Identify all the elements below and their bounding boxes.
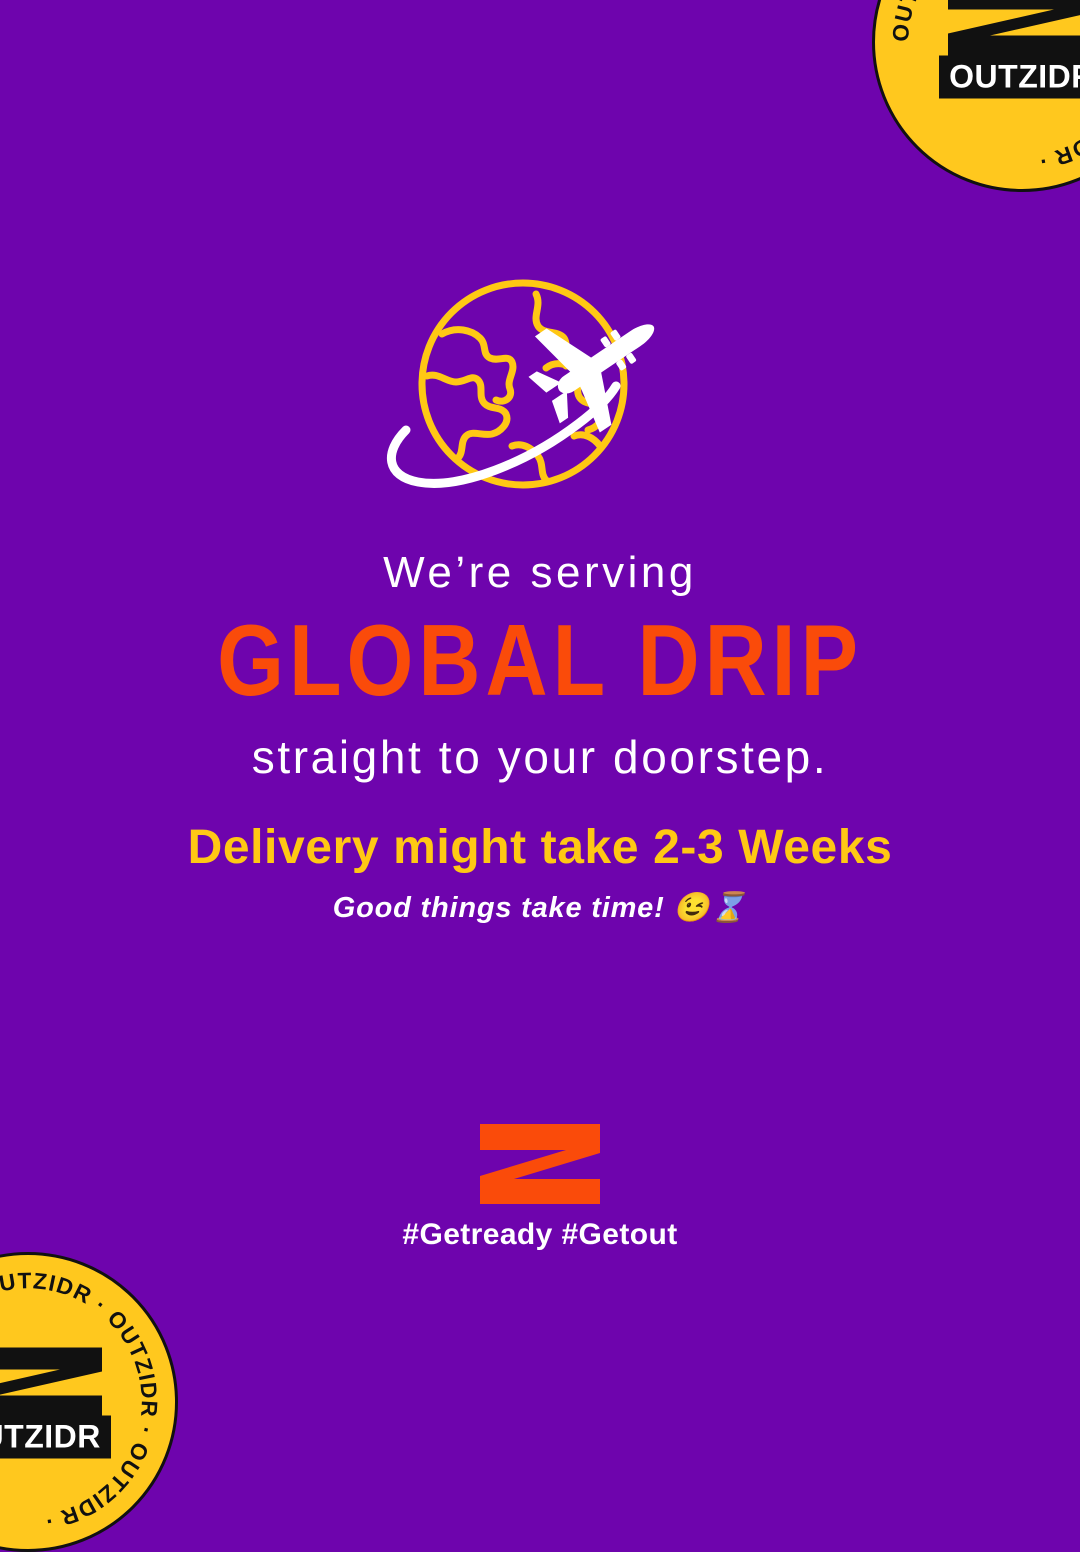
delivery-reassurance-text: Good things take time! 😉⌛ bbox=[0, 891, 1080, 925]
delivery-notice: Delivery might take 2-3 Weeks Good thing… bbox=[0, 822, 1080, 925]
kicker-text: We’re serving bbox=[0, 548, 1080, 599]
badge-wordmark-tr: OUTZIDR bbox=[939, 56, 1080, 99]
main-copy-block: We’re serving GLOBAL DRIP straight to yo… bbox=[0, 548, 1080, 784]
z-logo bbox=[478, 1122, 602, 1206]
page-title: GLOBAL DRIP bbox=[0, 604, 1080, 718]
badge-wordmark-bl: OUTZIDR bbox=[0, 1416, 111, 1459]
brand-badge-bottom-left: OUTZIDR · OUTZIDR · OUTZIDR · OUTZIDR · … bbox=[0, 1252, 178, 1552]
globe-airplane-icon bbox=[360, 272, 720, 512]
hashtags-text: #Getready #Getout bbox=[0, 1218, 1080, 1252]
badge-z-icon bbox=[0, 1346, 108, 1420]
subline-text: straight to your doorstep. bbox=[0, 731, 1080, 784]
badge-core-bl: OUTZIDR bbox=[0, 1346, 121, 1459]
brand-badge-top-right: OUTZIDR · OUTZIDR · OUTZIDR · OUTZIDR · … bbox=[872, 0, 1080, 192]
badge-z-icon bbox=[942, 0, 1080, 60]
footer-block: #Getready #Getout bbox=[0, 1122, 1080, 1252]
delivery-estimate-text: Delivery might take 2-3 Weeks bbox=[0, 822, 1080, 875]
badge-core-tr: OUTZIDR bbox=[929, 0, 1080, 99]
